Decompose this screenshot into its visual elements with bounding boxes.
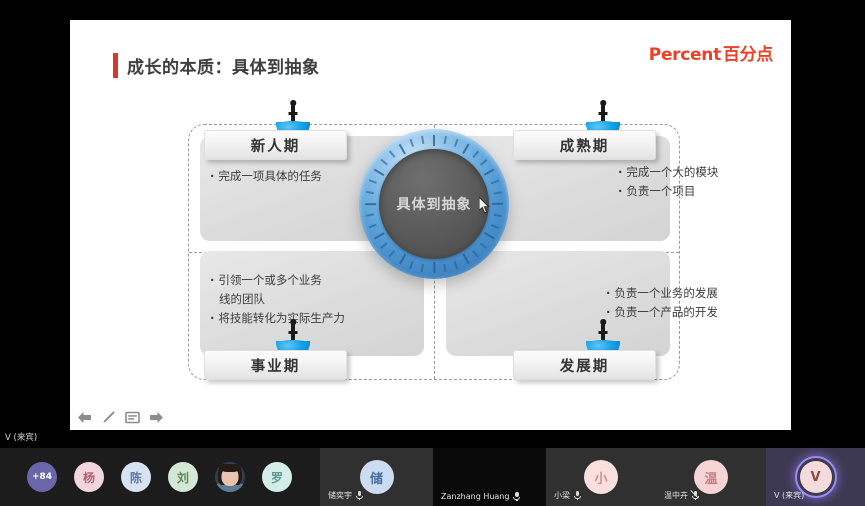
logo-text-cn: 百分点 <box>723 45 773 65</box>
logo-text-en: Percent <box>649 45 721 65</box>
dial-tick <box>389 151 395 158</box>
mic-icon <box>356 491 363 500</box>
dial-tick <box>454 139 458 147</box>
dial-tick <box>444 264 447 272</box>
dial-tick <box>444 136 447 144</box>
meeting-screen-share-window: 成长的本质：具体到抽象 Percent百分点 完成一项具体的任务 完成一个大的模… <box>0 0 865 506</box>
dial-tick <box>374 168 385 176</box>
dial-tick <box>389 250 395 257</box>
dial-tick <box>421 136 424 144</box>
bullet-item: 负责一个项目 <box>618 182 718 201</box>
avatar[interactable]: 陈 <box>121 462 151 492</box>
note-icon[interactable] <box>124 409 141 426</box>
video-tile-wenzhonghui[interactable]: 温 温中卉 <box>656 448 766 506</box>
page-title: 成长的本质：具体到抽象 <box>127 53 320 78</box>
dial-tick <box>484 168 495 176</box>
dial-tick <box>480 243 487 249</box>
mic-icon <box>574 491 581 500</box>
dial-tick <box>462 144 470 155</box>
stage-label-text: 新人期 <box>251 135 301 156</box>
dial-tick <box>374 232 385 240</box>
participant-filmstrip: +84 杨 陈 刘 罗 储 储奕宇 Zanzhang Huang 小 <box>0 448 865 506</box>
dial-tick <box>480 159 487 165</box>
dial-tick <box>381 243 388 249</box>
avatar: 储 <box>360 460 394 494</box>
stage-label-growth: 发展期 <box>513 350 656 380</box>
right-arrow-icon[interactable] <box>148 409 165 426</box>
dial-tick <box>491 224 499 228</box>
dial-tick <box>433 262 435 273</box>
bullets-newcomer: 完成一项具体的任务 <box>210 167 322 186</box>
presentation-toolbar <box>70 404 791 430</box>
avatar[interactable]: 杨 <box>74 462 104 492</box>
title-accent-bar <box>113 53 118 78</box>
participant-name: Zanzhang Huang <box>441 492 520 501</box>
bullet-item: 完成一个大的模块 <box>618 163 718 182</box>
bullet-item-continued: 线的团队 <box>210 290 345 309</box>
left-arrow-icon[interactable] <box>76 409 93 426</box>
stage-label-mature: 成熟期 <box>513 130 656 160</box>
stage-label-newcomer: 新人期 <box>204 130 347 160</box>
dial-tick <box>454 261 458 269</box>
dial-tick <box>494 214 502 217</box>
dial-tick <box>410 139 414 147</box>
avatar[interactable]: 罗 <box>262 462 292 492</box>
avatar-photo[interactable] <box>215 462 245 492</box>
dial-tick <box>398 144 406 155</box>
company-logo: Percent百分点 <box>649 40 773 65</box>
dial-tick <box>410 261 414 269</box>
dial-tick <box>369 180 377 184</box>
dial-tick <box>369 224 377 228</box>
bullet-item: 引领一个或多个业务 <box>210 271 345 290</box>
presenter-name-label: V (来宾) <box>5 431 37 443</box>
bullets-growth: 负责一个业务的发展 负责一个产品的开发 <box>606 284 718 322</box>
dial-tick <box>473 151 479 158</box>
bullets-mature: 完成一个大的模块 负责一个项目 <box>618 163 718 201</box>
pencil-icon[interactable] <box>100 409 117 426</box>
participant-name: 小梁 <box>554 490 581 501</box>
dial-tick <box>492 203 503 205</box>
dial-tick <box>421 264 424 272</box>
dial-tick <box>398 254 406 265</box>
dial-tick <box>366 191 374 194</box>
avatar-overflow-count[interactable]: +84 <box>27 462 57 492</box>
growth-stages-diagram: 完成一项具体的任务 完成一个大的模块 负责一个项目 引领一个或多个业务 线的团队… <box>188 105 680 380</box>
mic-muted-icon <box>692 491 699 500</box>
stage-label-text: 成熟期 <box>560 135 610 156</box>
dial-tick <box>462 254 470 265</box>
participant-avatar-cluster[interactable]: +84 杨 陈 刘 罗 <box>0 448 320 506</box>
bullet-item: 完成一项具体的任务 <box>210 167 322 186</box>
dial-tick <box>381 159 388 165</box>
dial-tick <box>433 135 435 146</box>
slide-title: 成长的本质：具体到抽象 <box>113 53 320 78</box>
bullets-career: 引领一个或多个业务 线的团队 将技能转化为实际生产力 <box>210 271 345 328</box>
bullet-item: 负责一个业务的发展 <box>606 284 718 303</box>
video-tile-guest-v[interactable]: V V (来宾) <box>766 448 865 506</box>
participant-name: 温中卉 <box>664 490 699 501</box>
stage-label-text: 事业期 <box>251 355 301 376</box>
dial-center-label: 具体到抽象 <box>397 194 472 214</box>
avatar: 小 <box>584 460 618 494</box>
dial-tick <box>366 214 374 217</box>
bullet-item: 负责一个产品的开发 <box>606 303 718 322</box>
avatar: 温 <box>694 460 728 494</box>
participant-name: V (来宾) <box>774 490 804 501</box>
dial-center: 具体到抽象 <box>379 149 489 259</box>
dial-tick <box>484 232 495 240</box>
shared-slide: 成长的本质：具体到抽象 Percent百分点 完成一项具体的任务 完成一个大的模… <box>70 20 791 430</box>
mouse-cursor <box>479 197 491 215</box>
video-tile-zanzhang-huang[interactable]: Zanzhang Huang <box>433 448 546 506</box>
video-tile-xiaoliang[interactable]: 小 小梁 <box>546 448 656 506</box>
dial-tick <box>491 180 499 184</box>
stage-label-career: 事业期 <box>204 350 347 380</box>
dial-tick <box>365 203 376 205</box>
avatar[interactable]: 刘 <box>168 462 198 492</box>
dial-tick <box>494 191 502 194</box>
dial-tick <box>473 250 479 257</box>
participant-name: 储奕宇 <box>328 490 363 501</box>
video-tile-chuyiyu[interactable]: 储 储奕宇 <box>320 448 433 506</box>
stage-label-text: 发展期 <box>560 355 610 376</box>
mic-icon <box>513 492 520 501</box>
